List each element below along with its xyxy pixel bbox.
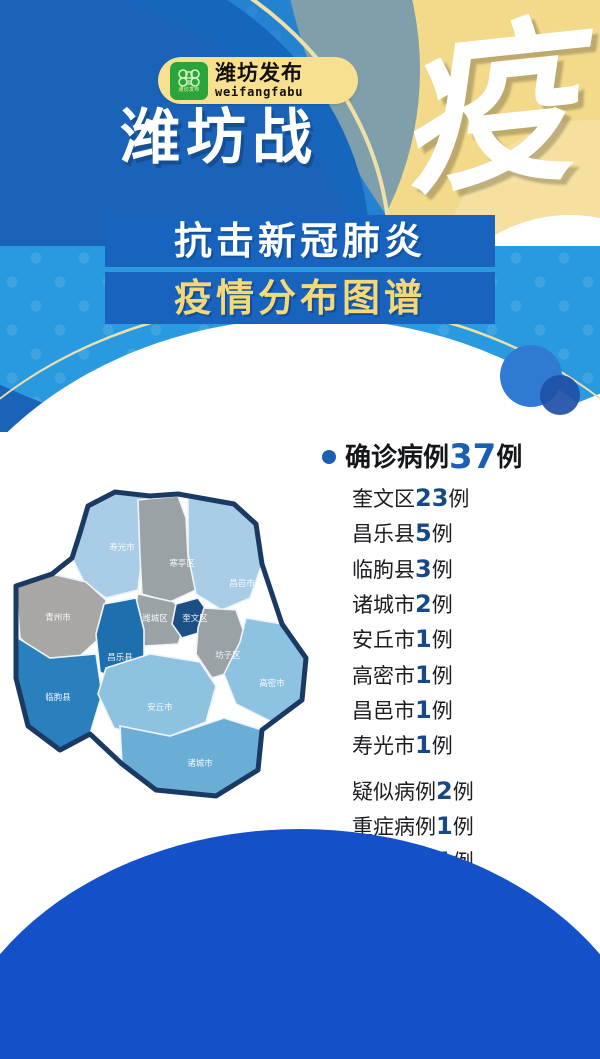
list-item: 安丘市1例	[352, 625, 592, 653]
row-label: 疑似病例	[352, 780, 436, 804]
row-label: 高密市	[352, 664, 415, 688]
list-item: 昌乐县5例	[352, 519, 592, 547]
logo-name-cn: 潍坊发布	[215, 63, 303, 84]
confirmed-total-label: 确诊病例	[345, 443, 449, 473]
confirmed-total-unit: 例	[496, 443, 522, 473]
list-item: 奎文区23例	[352, 484, 592, 512]
logo-name-en: weifangfabu	[215, 86, 303, 98]
row-unit: 例	[432, 522, 453, 546]
row-unit: 例	[432, 593, 453, 617]
list-item: 诸城市2例	[352, 590, 592, 618]
row-value: 1	[415, 625, 432, 653]
title-brush-character: 疫	[389, 13, 581, 205]
row-label: 寿光市	[352, 734, 415, 758]
svg-text:诸城市: 诸城市	[187, 758, 213, 769]
row-unit: 例	[432, 558, 453, 582]
row-label: 安丘市	[352, 628, 415, 652]
svg-text:奎文区: 奎文区	[182, 613, 208, 624]
confirmed-total-header: 确诊病例37例	[322, 440, 592, 474]
decor-circle-small	[540, 375, 580, 415]
row-unit: 例	[432, 699, 453, 723]
row-unit: 例	[432, 734, 453, 758]
subtitle-text-1: 抗击新冠肺炎	[174, 222, 426, 260]
weifang-district-map: 寿光市 寒亭区 昌邑市 青州市 潍城区 奎文区 坊子区 昌乐县 临朐县 安丘市 …	[10, 478, 320, 808]
row-unit: 例	[432, 664, 453, 688]
publisher-logo-badge: 潍坊发布 潍坊发布 weifangfabu	[158, 57, 358, 104]
list-divider-space	[322, 767, 592, 777]
row-label: 昌乐县	[352, 522, 415, 546]
svg-text:昌乐县: 昌乐县	[107, 652, 133, 663]
list-item: 临朐县3例	[352, 555, 592, 583]
row-value: 1	[415, 731, 432, 759]
row-value: 1	[436, 812, 453, 840]
list-item: 重症病例1例	[352, 812, 592, 840]
row-value: 3	[415, 555, 432, 583]
row-label: 临朐县	[352, 558, 415, 582]
row-label: 诸城市	[352, 593, 415, 617]
row-value: 23	[415, 484, 448, 512]
row-unit: 例	[453, 780, 474, 804]
list-item: 寿光市1例	[352, 731, 592, 759]
svg-text:坊子区: 坊子区	[215, 650, 241, 661]
infographic-poster: 潍坊发布 潍坊发布 weifangfabu 疫 潍坊战 抗击新冠肺炎 疫情分布图…	[0, 0, 600, 1059]
svg-text:潍城区: 潍城区	[142, 613, 168, 624]
bullet-dot-icon	[322, 450, 336, 464]
logo-mark-caption: 潍坊发布	[178, 88, 199, 93]
confirmed-total-line: 确诊病例37例	[345, 440, 522, 474]
svg-text:寿光市: 寿光市	[109, 542, 135, 553]
row-value: 1	[415, 696, 432, 724]
poster-title: 潍坊战	[120, 108, 318, 168]
row-value: 2	[415, 590, 432, 618]
logo-wordmark: 潍坊发布 weifangfabu	[215, 63, 303, 98]
subtitle-text-2: 疫情分布图谱	[174, 279, 426, 317]
svg-text:安丘市: 安丘市	[147, 702, 173, 713]
row-unit: 例	[453, 815, 474, 839]
list-item: 昌邑市1例	[352, 696, 592, 724]
list-item: 疑似病例2例	[352, 777, 592, 805]
row-label: 昌邑市	[352, 699, 415, 723]
row-unit: 例	[432, 628, 453, 652]
row-value: 2	[436, 777, 453, 805]
confirmed-total-value: 37	[449, 437, 496, 477]
svg-text:临朐县: 临朐县	[45, 692, 71, 703]
row-unit: 例	[448, 487, 469, 511]
subtitle-bar-2: 疫情分布图谱	[105, 272, 495, 324]
kite-logo-icon: 潍坊发布	[170, 62, 208, 100]
confirmed-district-list: 奎文区23例 昌乐县5例 临朐县3例 诸城市2例 安丘市1例 高密市1例 昌邑市…	[322, 484, 592, 760]
svg-text:寒亭区: 寒亭区	[169, 558, 195, 569]
svg-text:昌邑市: 昌邑市	[229, 578, 255, 589]
subtitle-bar-1: 抗击新冠肺炎	[105, 215, 495, 267]
row-label: 奎文区	[352, 487, 415, 511]
svg-text:青州市: 青州市	[45, 612, 71, 623]
list-item: 高密市1例	[352, 661, 592, 689]
row-value: 5	[415, 519, 432, 547]
row-value: 1	[415, 661, 432, 689]
svg-text:高密市: 高密市	[259, 678, 285, 689]
